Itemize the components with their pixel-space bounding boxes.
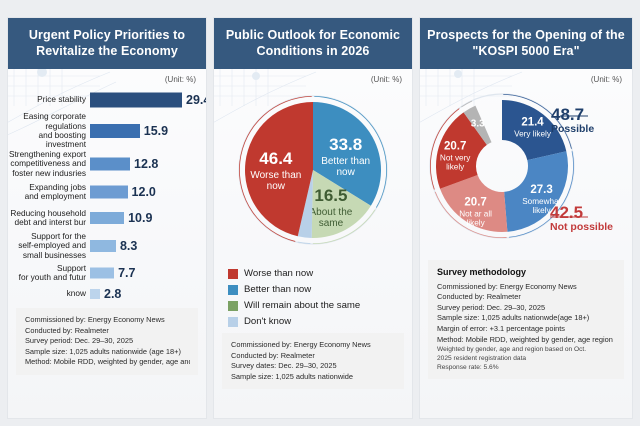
bar-track: 2.8 <box>90 286 206 302</box>
bar-track: 12.8 <box>90 150 206 178</box>
panel-kospi-prospects: Prospects for the Opening of the "KOSPI … <box>420 18 632 418</box>
methodology-line-small: Response rate: 5.6% <box>437 363 616 372</box>
donut-slice-label: likely <box>467 218 486 227</box>
methodology-line: Sample size: 1,025 adults nationwide (ag… <box>25 347 190 358</box>
bar-value: 10.9 <box>128 211 152 225</box>
callout-not-possible: 42.5 Not possible <box>550 204 613 233</box>
donut-slice-value: 20.7 <box>464 196 486 208</box>
bar-value: 2.8 <box>104 287 121 301</box>
bar-value: 8.3 <box>120 239 137 253</box>
panel-3-unit: (Unit: %) <box>420 69 632 84</box>
methodology-line: Conducted by: Realmeter <box>25 326 190 337</box>
pie-slice-label: Worse than <box>250 170 301 181</box>
pie-slice-value: 46.4 <box>259 149 293 168</box>
pie-slice-value: 33.8 <box>329 135 362 154</box>
methodology-line: Commissioned by: Energy Economy News <box>231 340 396 351</box>
methodology-line-small: 2025 resident registration data <box>437 354 616 363</box>
infographic-stage: Urgent Policy Priorities to Revitalize t… <box>0 0 640 426</box>
methodology-title: Survey methodology <box>437 267 616 278</box>
legend-label: Will remain about the same <box>244 300 360 311</box>
legend-label: Better than now <box>244 284 311 295</box>
donut-slice-label: Not very <box>440 154 471 163</box>
pie-chart-container: 33.8Better thannow16.5About thesame46.4W… <box>214 84 412 264</box>
callout-possible-label: Possible <box>551 123 594 135</box>
bar-track: 10.9 <box>90 206 206 230</box>
pie-slice-label: About the <box>310 207 353 218</box>
pie-legend: Worse than nowBetter than nowWill remain… <box>228 268 412 327</box>
donut-slice-value: 3.3 <box>471 118 485 129</box>
panel-1-title: Urgent Policy Priorities to Revitalize t… <box>8 18 206 69</box>
methodology-line: Method: Mobile RDD, weighted by gender, … <box>437 335 616 346</box>
methodology-lines: Commissioned by: Energy Economy NewsCond… <box>437 282 616 373</box>
methodology-line: Sample size: 1,025 adults nationwde(age … <box>437 313 616 324</box>
donut-slice-value: 21.4 <box>521 117 544 129</box>
methodology-line: Margin of error: +3.1 percentage points <box>437 324 616 335</box>
donut-chart-container: 21.4Very likely27.3Somewhatlikely20.7Not… <box>420 84 632 254</box>
donut-slice-label: likely <box>446 163 465 172</box>
bar <box>90 93 182 108</box>
bar-row: know2.8 <box>8 286 206 302</box>
bar-label: Expanding jobs and employment <box>8 183 90 202</box>
methodology-line: Survey dates: Dec. 29–30, 2025 <box>231 361 396 372</box>
callout-possible: 48.7 Possible <box>551 106 594 135</box>
bar <box>90 289 100 299</box>
bar-track: 29.4 <box>90 88 206 112</box>
methodology-line: Survey period: Dec. 29–30, 2025 <box>437 303 616 314</box>
methodology-line-small: Weighted by gender, age and region based… <box>437 345 616 354</box>
legend-item: Don't know <box>228 316 412 327</box>
methodology-box: Commissioned by: Energy Economy NewsCond… <box>16 308 198 375</box>
bar <box>90 268 114 279</box>
bar-row: Price stability29.4 <box>8 88 206 112</box>
legend-label: Don't know <box>244 316 291 327</box>
callout-not-possible-label: Not possible <box>550 221 613 233</box>
bar-label: Easing corporate regulations and boostin… <box>8 112 90 150</box>
bar-track: 7.7 <box>90 262 206 284</box>
bar-label: know <box>8 289 90 298</box>
donut-outer-accent <box>461 101 472 108</box>
panel-2-unit: (Unit: %) <box>214 69 412 84</box>
callout-possible-value: 48.7 <box>551 106 594 123</box>
panel-2-title: Public Outlook for Economic Conditions i… <box>214 18 412 69</box>
bar-row: Strengthening export competitiveness and… <box>8 150 206 178</box>
legend-swatch <box>228 301 238 311</box>
bar <box>90 240 116 252</box>
bar-label: Support for the self-employed and small … <box>8 232 90 260</box>
pie-slice-label: now <box>336 167 355 178</box>
bar-row: Expanding jobs and employment12.0 <box>8 180 206 204</box>
legend-swatch <box>228 269 238 279</box>
methodology-box: Commissioned by: Energy Economy NewsCond… <box>222 333 404 389</box>
legend-item: Will remain about the same <box>228 300 412 311</box>
methodology-line: Survey period: Dec. 29–30, 2025 <box>25 336 190 347</box>
methodology-box: Survey methodology Commissioned by: Ener… <box>428 260 624 379</box>
panel-policy-priorities: Urgent Policy Priorities to Revitalize t… <box>8 18 206 418</box>
pie-chart: 33.8Better thannow16.5About thesame46.4W… <box>214 84 412 264</box>
bar-value: 15.9 <box>144 124 168 138</box>
legend-swatch <box>228 285 238 295</box>
bar-track: 12.0 <box>90 180 206 204</box>
methodology-line: Method: Mobile RDD, weighted by gender, … <box>25 357 190 368</box>
panel-economic-outlook: Public Outlook for Economic Conditions i… <box>214 18 412 418</box>
donut-slice-label: Very likely <box>514 130 552 139</box>
legend-item: Better than now <box>228 284 412 295</box>
bar-label: Strengthening export competitiveness and… <box>8 150 90 178</box>
legend-swatch <box>228 317 238 327</box>
bar-track: 8.3 <box>90 232 206 260</box>
bar-label: Support for youth and futur <box>8 264 90 283</box>
bar <box>90 124 140 138</box>
bar-row: Easing corporate regulations and boostin… <box>8 114 206 148</box>
bar-label: Price stability <box>8 95 90 104</box>
methodology-line: Conducted by: Realmeter <box>231 351 396 362</box>
panel-3-title: Prospects for the Opening of the "KOSPI … <box>420 18 632 69</box>
bar-row: Support for youth and futur7.7 <box>8 262 206 284</box>
pie-slice-label: now <box>267 181 286 192</box>
donut-slice-value: 27.3 <box>530 184 552 196</box>
bar-track: 15.9 <box>90 114 206 148</box>
methodology-line: Commissioned by: Energy Economy News <box>25 315 190 326</box>
pie-slice-label: Better than <box>321 156 370 167</box>
bar-value: 29.4 <box>186 93 206 107</box>
donut-slice-label: likely <box>532 206 551 215</box>
methodology-line: Sample size: 1,025 adults nationwide <box>231 372 396 383</box>
bar-chart: Price stability29.4Easing corporate regu… <box>8 84 206 302</box>
bar-value: 12.0 <box>132 185 156 199</box>
bar-value: 7.7 <box>118 266 135 280</box>
donut-slice-label: Not ar all <box>459 209 492 218</box>
bar-label: Reducing household debt and interst bur <box>8 209 90 228</box>
panel-1-unit: (Unit: %) <box>8 69 206 84</box>
legend-item: Worse than now <box>228 268 412 279</box>
bar <box>90 186 128 199</box>
donut-slice-value: 20.7 <box>444 141 466 153</box>
methodology-line: Commissioned by: Energy Economy News <box>437 282 616 293</box>
bar-row: Reducing household debt and interst bur1… <box>8 206 206 230</box>
bar-value: 12.8 <box>134 157 158 171</box>
bar-row: Support for the self-employed and small … <box>8 232 206 260</box>
callout-not-possible-value: 42.5 <box>550 204 613 221</box>
pie-slice-label: same <box>319 218 344 229</box>
pie-slice-value: 16.5 <box>314 186 347 205</box>
legend-label: Worse than now <box>244 268 313 279</box>
bar <box>90 212 124 224</box>
bar <box>90 158 130 171</box>
methodology-line: Conducted by: Realmeter <box>437 292 616 303</box>
